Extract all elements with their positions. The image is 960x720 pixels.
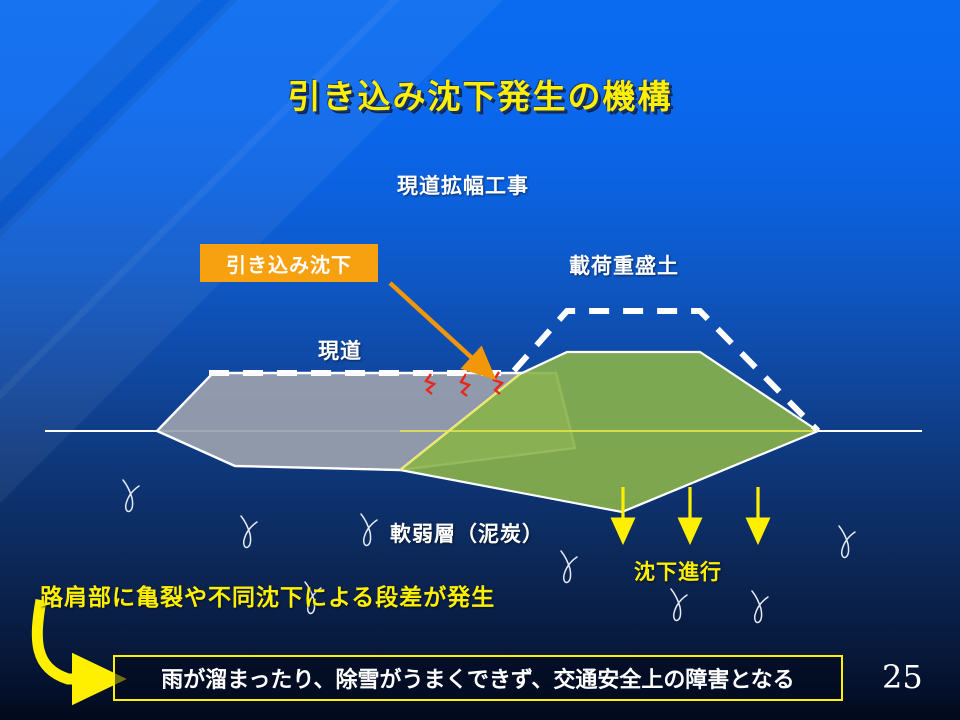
label-shoulder-crack: 路肩部に亀裂や不同沈下による段差が発生 — [40, 578, 495, 612]
drag-in-settlement-arrow — [390, 283, 483, 368]
peat-symbol — [671, 589, 687, 621]
conclusion-text: 雨が溜まったり、除雪がうまくできず、交通安全上の障害となる — [161, 662, 794, 694]
page-number: 25 — [882, 658, 923, 696]
label-widening-work: 現道拡幅工事 — [397, 170, 529, 200]
peat-symbol — [839, 526, 855, 558]
page-title: 引き込み沈下発生の機構 — [0, 70, 960, 118]
label-existing-road: 現道 — [318, 335, 362, 365]
peat-symbol — [361, 514, 377, 546]
peat-symbol — [123, 480, 139, 512]
label-surcharge-fill: 載荷重盛土 — [569, 250, 679, 280]
label-soft-layer: 軟弱層（泥炭） — [390, 518, 544, 548]
conclusion-box: 雨が溜まったり、除雪がうまくできず、交通安全上の障害となる — [113, 655, 843, 701]
peat-symbol — [561, 551, 577, 583]
callout-drag-in-settlement-label: 引き込み沈下 — [226, 249, 352, 278]
peat-symbol — [752, 591, 768, 623]
slide-canvas: 引き込み沈下発生の機構 現道拡幅工事 載荷重盛土 引き込み沈下 現道 軟弱層（泥… — [0, 0, 960, 720]
callout-drag-in-settlement[interactable]: 引き込み沈下 — [200, 244, 378, 282]
peat-symbol — [241, 516, 257, 548]
label-settlement-progress: 沈下進行 — [634, 556, 722, 586]
